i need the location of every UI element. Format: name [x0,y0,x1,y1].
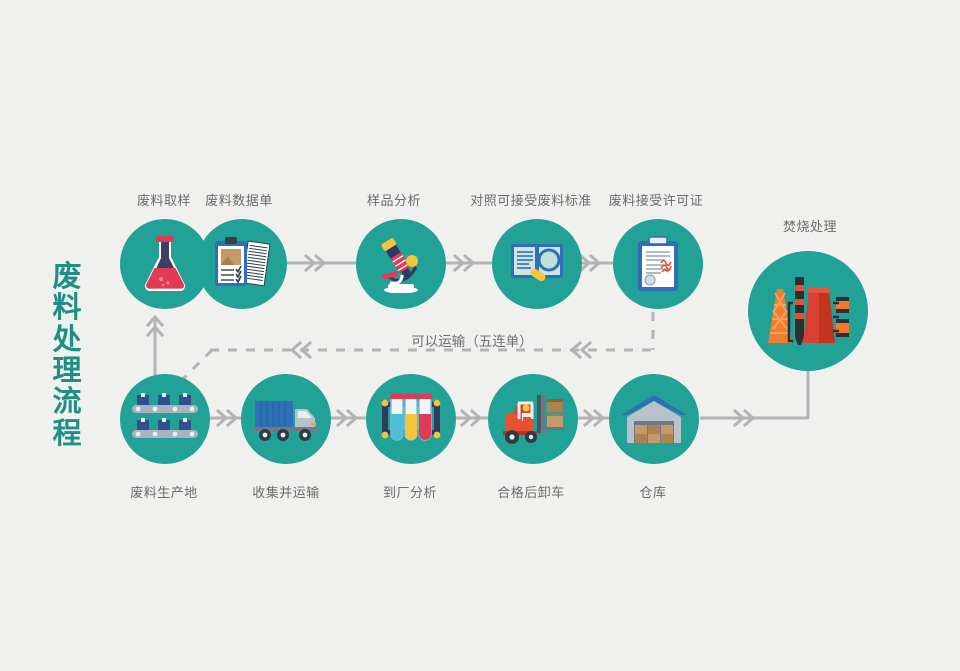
label-bottom-2: 收集并运输 [252,486,320,499]
microscope-icon [372,235,430,293]
node-waste-datasheet[interactable] [197,219,287,309]
certificate-icon [635,235,681,293]
truck-icon [253,395,319,443]
label-top-2: 废料数据单 [205,194,273,207]
label-bottom-4: 合格后卸车 [497,486,565,499]
node-waste-acceptance-permit[interactable] [613,219,703,309]
node-plant-analysis[interactable] [366,374,456,464]
node-waste-criteria-check[interactable] [492,219,582,309]
label-bottom-3: 到厂分析 [383,486,437,499]
label-bottom-5: 仓库 [639,486,666,499]
feedback-path-label: 可以运输（五连单） [411,330,533,350]
forklift-icon [501,391,565,447]
node-sample-analysis[interactable] [356,219,446,309]
node-collect-transport[interactable] [241,374,331,464]
flowchart-canvas: 废料处理流程 [0,0,960,671]
node-unload-after-pass[interactable] [488,374,578,464]
label-top-1: 废料取样 [137,194,191,207]
warehouse-icon [621,393,687,445]
incinerator-plant-icon [765,271,851,351]
node-incineration[interactable] [748,251,868,371]
book-magnifier-icon [508,238,566,290]
label-top-5: 废料接受许可证 [609,194,704,207]
label-bottom-1: 废料生产地 [130,486,198,499]
flask-icon [139,235,191,293]
node-warehouse[interactable] [609,374,699,464]
label-top-3: 样品分析 [367,194,421,207]
node-waste-origin[interactable] [120,374,210,464]
label-incineration: 焚烧处理 [783,220,837,233]
conveyor-belt-icon [131,393,199,445]
test-tubes-icon [380,390,442,448]
label-top-4: 对照可接受废料标准 [470,194,592,207]
clipboard-checklist-icon [213,236,271,292]
